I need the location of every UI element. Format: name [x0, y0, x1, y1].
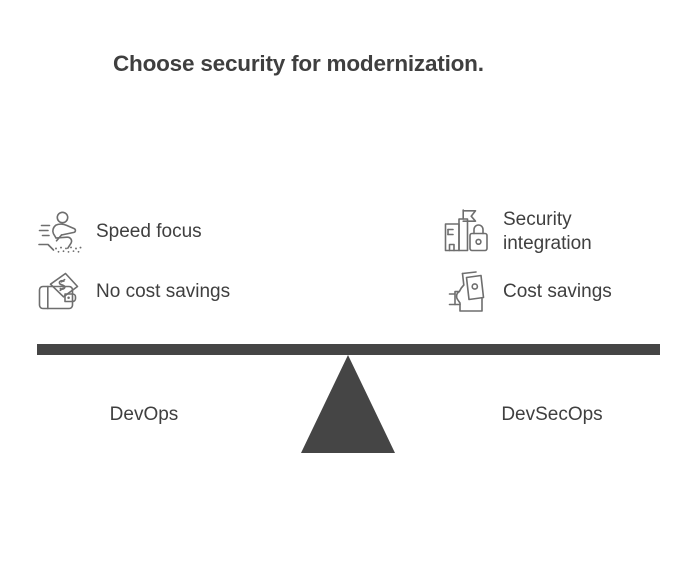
attribute-label: No cost savings [96, 280, 230, 304]
attribute-row-no-cost-savings: No cost savings [34, 266, 230, 318]
attribute-label: Security integration [503, 208, 592, 256]
attribute-row-cost-savings: Cost savings [441, 266, 612, 318]
fulcrum-triangle [301, 355, 395, 453]
sprinter-speed-icon [34, 207, 84, 257]
left-side-attributes: Speed focus No cost savings [34, 206, 230, 326]
side-label-devops: DevOps [44, 403, 244, 427]
side-label-devsecops: DevSecOps [452, 403, 652, 427]
attribute-row-speed-focus: Speed focus [34, 206, 230, 258]
balance-beam [37, 344, 660, 355]
infographic-slide: Choose security for modernization. [0, 0, 684, 576]
right-side-attributes: Security integration [441, 206, 612, 326]
hand-coin-icon [441, 267, 491, 317]
buildings-lock-icon [441, 207, 491, 257]
attribute-row-security-integration: Security integration [441, 206, 612, 258]
attribute-label: Cost savings [503, 280, 612, 304]
wallet-icon [34, 267, 84, 317]
attribute-label: Speed focus [96, 220, 202, 244]
page-title: Choose security for modernization. [113, 51, 484, 77]
